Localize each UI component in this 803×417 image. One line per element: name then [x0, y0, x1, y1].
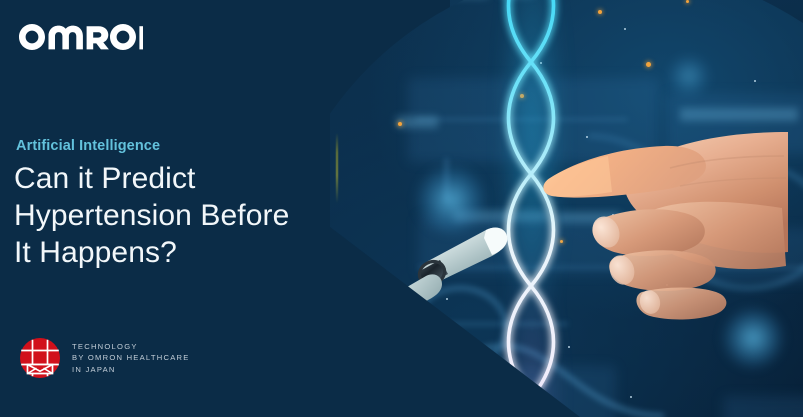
omron-logo[interactable] [19, 23, 143, 51]
badge-line-3: IN JAPAN [72, 364, 190, 376]
hero-image [330, 0, 803, 417]
sparkle [624, 28, 626, 30]
amber-particle [686, 0, 689, 3]
sparkle [630, 396, 632, 398]
badge-text: TECHNOLOGY BY OMRON HEALTHCARE IN JAPAN [72, 341, 190, 376]
badge-line-1: TECHNOLOGY [72, 341, 190, 353]
headline-line-2: Hypertension Before [14, 199, 289, 232]
headline-line-1: Can it Predict [14, 162, 195, 195]
amber-particle [398, 122, 402, 126]
left-content-panel: Artificial Intelligence Can it Predict H… [0, 0, 340, 417]
glow-orb [666, 54, 712, 98]
sparkle [754, 80, 756, 82]
technology-badge: TECHNOLOGY BY OMRON HEALTHCARE IN JAPAN [19, 337, 190, 379]
badge-line-2: BY OMRON HEALTHCARE [72, 352, 190, 364]
globe-envelope-mark-icon [19, 337, 61, 379]
headline-line-3: It Happens? [14, 236, 177, 269]
eyebrow-label: Artificial Intelligence [16, 138, 160, 154]
omron-ai-hypertension-banner: Artificial Intelligence Can it Predict H… [0, 0, 803, 417]
amber-particle [646, 62, 651, 67]
hud-panel [723, 396, 803, 417]
page-title: Can it Predict Hypertension Before It Ha… [14, 160, 324, 271]
human-hand-icon [530, 116, 760, 326]
hud-label [396, 116, 438, 128]
